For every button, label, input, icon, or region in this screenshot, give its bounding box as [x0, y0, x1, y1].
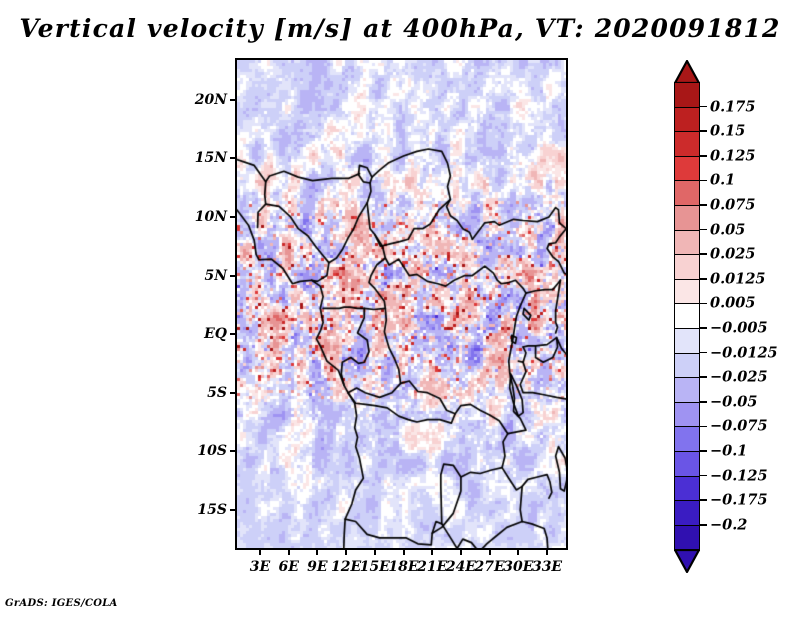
- colorbar-tick-label: −0.025: [710, 369, 768, 386]
- colorbar-tick: [700, 475, 707, 477]
- colorbar-swatch: [674, 402, 700, 428]
- latitude-tick: [230, 275, 237, 277]
- colorbar-tick: [700, 229, 707, 231]
- longitude-tick: [288, 548, 290, 555]
- longitude-tick: [374, 548, 376, 555]
- longitude-tick: [546, 548, 548, 555]
- colorbar-tick-label: −0.05: [710, 393, 757, 410]
- colorbar: 0.1750.150.1250.10.0750.050.0250.01250.0…: [670, 60, 800, 560]
- colorbar-tick-label: −0.175: [710, 492, 768, 509]
- colorbar-tick: [700, 253, 707, 255]
- latitude-tick: [230, 99, 237, 101]
- colorbar-swatch: [674, 180, 700, 206]
- longitude-tick-label: 15E: [360, 559, 390, 575]
- longitude-tick-label: 24E: [446, 559, 476, 575]
- colorbar-min-arrow: [674, 549, 700, 573]
- colorbar-tick-label: −0.1: [710, 443, 747, 460]
- longitude-tick-label: 12E: [331, 559, 361, 575]
- colorbar-swatch: [674, 156, 700, 182]
- latitude-tick: [230, 450, 237, 452]
- colorbar-tick: [700, 204, 707, 206]
- colorbar-tick: [700, 499, 707, 501]
- longitude-tick: [431, 548, 433, 555]
- latitude-tick-label: 5S: [207, 385, 227, 401]
- colorbar-tick: [700, 106, 707, 108]
- latitude-tick-label: 20N: [195, 92, 227, 108]
- longitude-tick-label: 27E: [475, 559, 505, 575]
- latitude-tick: [230, 333, 237, 335]
- latitude-tick-label: 10N: [195, 209, 227, 225]
- colorbar-tick-label: 0.175: [710, 98, 755, 115]
- longitude-tick-label: 18E: [388, 559, 418, 575]
- page-title: Vertical velocity [m/s] at 400hPa, VT: 2…: [0, 14, 800, 43]
- colorbar-tick: [700, 524, 707, 526]
- plot-canvas: Vertical velocity [m/s] at 400hPa, VT: 2…: [0, 0, 800, 618]
- colorbar-swatch: [674, 451, 700, 477]
- longitude-tick: [460, 548, 462, 555]
- colorbar-tick: [700, 401, 707, 403]
- colorbar-swatch: [674, 230, 700, 256]
- colorbar-swatch: [674, 303, 700, 329]
- colorbar-tick: [700, 352, 707, 354]
- colorbar-tick-label: 0.005: [710, 295, 755, 312]
- colorbar-swatch: [674, 279, 700, 305]
- colorbar-tick: [700, 426, 707, 428]
- longitude-tick: [489, 548, 491, 555]
- longitude-tick-label: 33E: [532, 559, 562, 575]
- longitude-tick: [345, 548, 347, 555]
- colorbar-tick-label: −0.075: [710, 418, 768, 435]
- latitude-tick-label: 10S: [197, 443, 227, 459]
- longitude-tick-label: 6E: [278, 559, 298, 575]
- colorbar-tick-label: 0.075: [710, 197, 755, 214]
- colorbar-tick: [700, 327, 707, 329]
- colorbar-swatch: [674, 476, 700, 502]
- longitude-tick: [403, 548, 405, 555]
- colorbar-swatch: [674, 205, 700, 231]
- grads-attribution: GrADS: IGES/COLA: [5, 598, 118, 609]
- colorbar-tick-label: 0.025: [710, 246, 755, 263]
- latitude-tick: [230, 157, 237, 159]
- latitude-tick-label: EQ: [204, 326, 227, 342]
- colorbar-max-arrow: [674, 60, 700, 84]
- map-panel: 20N15N10N5NEQ5S10S15S 3E6E9E12E15E18E21E…: [235, 58, 568, 550]
- longitude-tick-label: 30E: [503, 559, 533, 575]
- colorbar-tick-label: −0.0125: [710, 344, 778, 361]
- colorbar-swatch: [674, 131, 700, 157]
- longitude-tick: [517, 548, 519, 555]
- country-borders-overlay: [237, 60, 566, 548]
- colorbar-swatch: [674, 82, 700, 108]
- colorbar-swatch: [674, 377, 700, 403]
- longitude-tick-label: 3E: [250, 559, 270, 575]
- colorbar-tick: [700, 155, 707, 157]
- colorbar-swatch: [674, 328, 700, 354]
- latitude-tick-label: 15S: [197, 502, 227, 518]
- colorbar-tick: [700, 450, 707, 452]
- colorbar-tick: [700, 303, 707, 305]
- longitude-tick-label: 21E: [417, 559, 447, 575]
- colorbar-swatch: [674, 107, 700, 133]
- colorbar-tick-label: −0.125: [710, 467, 768, 484]
- colorbar-tick-label: 0.05: [710, 221, 745, 238]
- colorbar-tick-label: 0.15: [710, 123, 745, 140]
- latitude-tick: [230, 509, 237, 511]
- colorbar-tick: [700, 180, 707, 182]
- colorbar-tick-label: 0.1: [710, 172, 735, 189]
- colorbar-tick-label: 0.0125: [710, 270, 766, 287]
- colorbar-swatch: [674, 525, 700, 551]
- colorbar-tick: [700, 130, 707, 132]
- colorbar-tick-label: 0.125: [710, 147, 755, 164]
- colorbar-swatch: [674, 254, 700, 280]
- colorbar-tick: [700, 278, 707, 280]
- colorbar-swatch: [674, 500, 700, 526]
- colorbar-tick: [700, 376, 707, 378]
- colorbar-swatch: [674, 353, 700, 379]
- latitude-tick-label: 5N: [204, 268, 227, 284]
- colorbar-tick-label: −0.005: [710, 320, 768, 337]
- longitude-tick-label: 9E: [307, 559, 327, 575]
- longitude-tick: [316, 548, 318, 555]
- latitude-tick-label: 15N: [195, 150, 227, 166]
- latitude-tick: [230, 392, 237, 394]
- latitude-tick: [230, 216, 237, 218]
- map-clip: [237, 60, 566, 548]
- colorbar-tick-label: −0.2: [710, 516, 747, 533]
- colorbar-swatch: [674, 426, 700, 452]
- longitude-tick: [259, 548, 261, 555]
